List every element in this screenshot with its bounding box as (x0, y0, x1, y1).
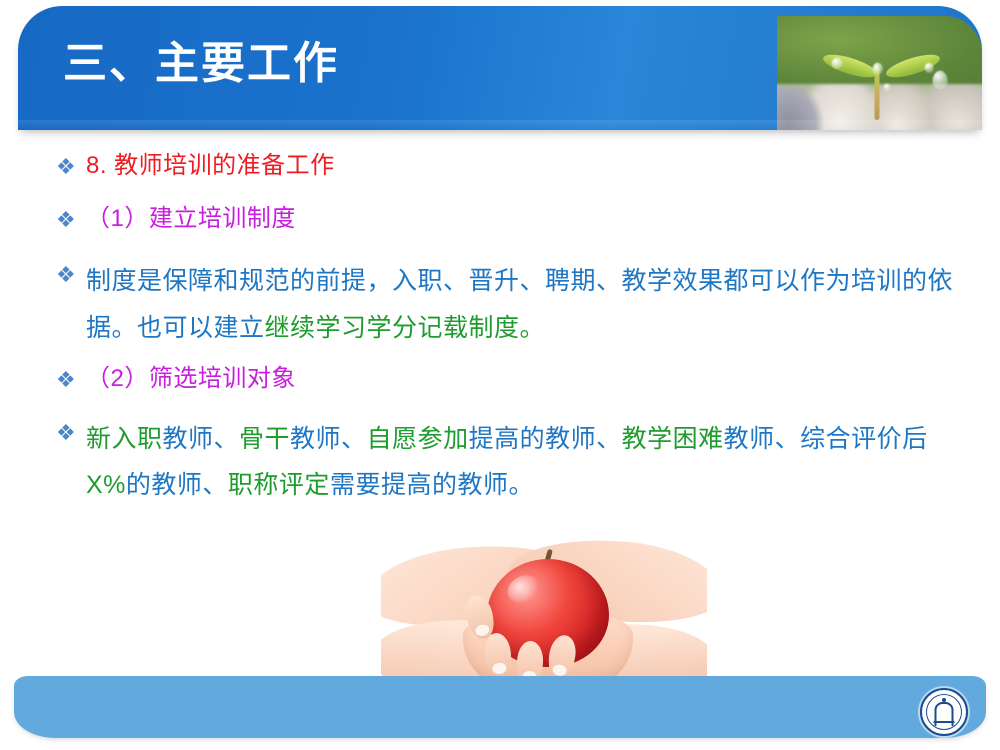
slide-canvas: 三、主要工作 ❖ 8. 教师培训的准备工作 ❖ （1）建立培训制度 ❖ (0, 0, 1000, 750)
water-droplet (925, 63, 933, 72)
header-banner: 三、主要工作 (18, 6, 982, 130)
diamond-bullet-icon: ❖ (56, 152, 80, 182)
slide-body: ❖ 8. 教师培训的准备工作 ❖ （1）建立培训制度 ❖ 制度是保障和规范的前提… (0, 150, 1000, 513)
paragraph-2-segment: X% (86, 471, 126, 499)
bullet-text-paragraph-2: 新入职教师、骨干教师、自愿参加提高的教师、教学困难教师、综合评价后X%的教师、职… (86, 416, 960, 509)
bullet-item-paragraph-2: ❖ 新入职教师、骨干教师、自愿参加提高的教师、教学困难教师、综合评价后X%的教师… (0, 416, 1000, 509)
paragraph-2-segment: 自愿参加 (367, 425, 469, 453)
paragraph-2-segment: 教师、 (290, 425, 367, 453)
paragraph-2-segment: 教师、综合评价后 (724, 425, 928, 453)
university-seal-logo (920, 688, 968, 736)
footer-bar (14, 676, 986, 738)
paragraph-2-segment: 骨干 (239, 425, 290, 453)
sprout-photo (777, 16, 982, 130)
bullet-text-subheading-1: （1）建立培训制度 (86, 203, 296, 234)
bullet-text-subheading-2: （2）筛选培训对象 (86, 363, 296, 394)
paragraph-2-segment: 的教师、 (126, 471, 228, 499)
bullet-item-paragraph-1: ❖ 制度是保障和规范的前提，入职、晋升、聘期、教学效果都可以作为培训的依据。也可… (0, 258, 1000, 351)
bullet-item-subheading-1: ❖ （1）建立培训制度 (0, 203, 1000, 234)
fingernail (492, 662, 507, 674)
paragraph-1-segment-emphasis: 继续学习学分记载制度。 (265, 314, 546, 342)
bullet-text-heading: 8. 教师培训的准备工作 (86, 150, 335, 181)
bullet-item-subheading-2: ❖ （2）筛选培训对象 (0, 363, 1000, 394)
paragraph-2-segment: 提高的教师、 (469, 425, 622, 453)
paragraph-2-segment: 新入职 (86, 425, 163, 453)
bullet-text-paragraph-1: 制度是保障和规范的前提，入职、晋升、聘期、教学效果都可以作为培训的依据。也可以建… (86, 258, 960, 351)
paragraph-2-segment: 需要提高的教师。 (330, 471, 534, 499)
seal-bar (934, 721, 955, 723)
paragraph-2-segment: 教师、 (163, 425, 240, 453)
seal-inner-ring (926, 694, 962, 730)
diamond-bullet-icon: ❖ (56, 260, 80, 290)
fingernail (474, 623, 490, 637)
paragraph-2-segment: 职称评定 (228, 471, 330, 499)
diamond-bullet-icon: ❖ (56, 205, 80, 235)
paragraph-2-segment: 教学困难 (622, 425, 724, 453)
diamond-bullet-icon: ❖ (56, 418, 80, 448)
diamond-bullet-icon: ❖ (56, 365, 80, 395)
water-droplet (933, 71, 947, 88)
bullet-item-heading: ❖ 8. 教师培训的准备工作 (0, 150, 1000, 181)
page-title: 三、主要工作 (63, 42, 339, 86)
fingernail (552, 664, 568, 677)
